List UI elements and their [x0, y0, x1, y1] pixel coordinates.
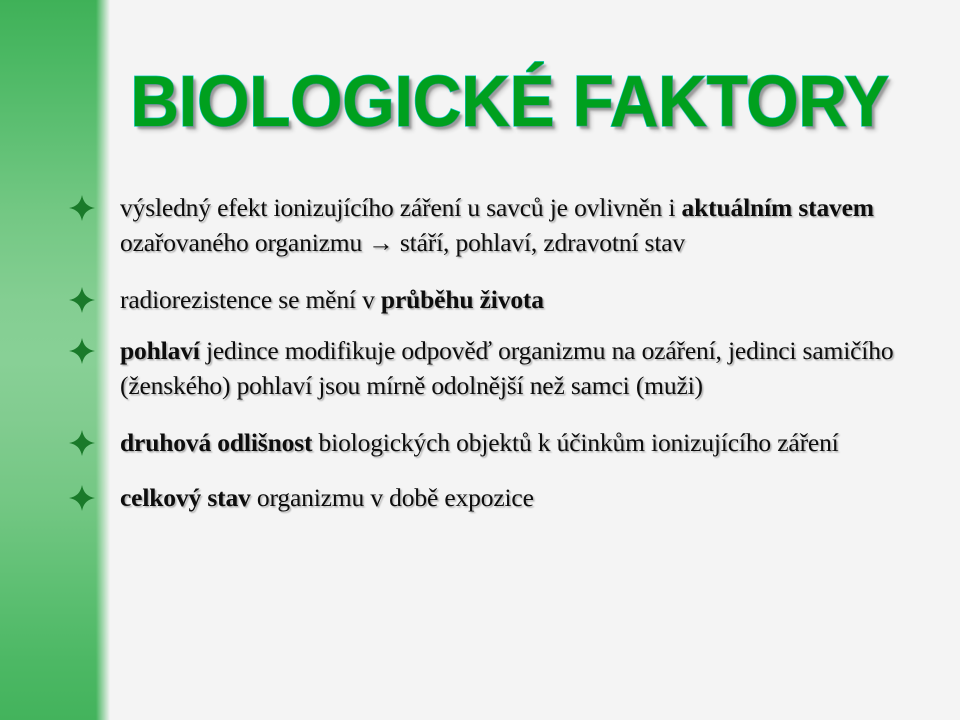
- emphasis-text: aktuálním stavem: [682, 193, 874, 222]
- list-item-text: celkový stav organizmu v době expozice: [120, 480, 960, 515]
- bullet-list: výsledný efekt ionizujícího záření u sav…: [0, 190, 960, 515]
- presentation-slide: BIOLOGICKÉ FAKTORY výsledný efekt ionizu…: [0, 0, 960, 720]
- four-point-star-icon: [69, 430, 95, 456]
- body-text: výsledný efekt ionizujícího záření u sav…: [120, 193, 682, 222]
- list-item-text: výsledný efekt ionizujícího záření u sav…: [120, 190, 960, 260]
- list-item: výsledný efekt ionizujícího záření u sav…: [0, 190, 960, 260]
- body-text: radiorezistence se mění v: [120, 285, 381, 314]
- emphasis-text: průběhu života: [381, 285, 544, 314]
- list-item: pohlaví jedince modifikuje odpověď organ…: [0, 333, 960, 403]
- emphasis-text: druhová odlišnost: [120, 428, 312, 457]
- body-text: ozařovaného organizmu → stáří, pohlaví, …: [120, 228, 685, 257]
- emphasis-text: celkový stav: [120, 483, 251, 512]
- page-title: BIOLOGICKÉ FAKTORY: [131, 63, 890, 141]
- four-point-star-icon: [69, 485, 95, 511]
- list-item: radiorezistence se mění v průběhu života: [0, 282, 960, 317]
- body-text: organizmu v době expozice: [251, 483, 534, 512]
- list-item: celkový stav organizmu v době expozice: [0, 480, 960, 515]
- list-item-text: radiorezistence se mění v průběhu života: [120, 282, 960, 317]
- four-point-star-icon: [69, 338, 95, 364]
- four-point-star-icon: [69, 287, 95, 313]
- list-item-text: druhová odlišnost biologických objektů k…: [120, 425, 960, 460]
- list-item: druhová odlišnost biologických objektů k…: [0, 425, 960, 460]
- body-text: jedince modifikuje odpověď organizmu na …: [120, 336, 893, 400]
- emphasis-text: pohlaví: [120, 336, 200, 365]
- body-text: biologických objektů k účinkům ionizujíc…: [312, 428, 838, 457]
- list-item-text: pohlaví jedince modifikuje odpověď organ…: [120, 333, 960, 403]
- four-point-star-icon: [69, 195, 95, 221]
- title-block: BIOLOGICKÉ FAKTORY: [110, 56, 910, 148]
